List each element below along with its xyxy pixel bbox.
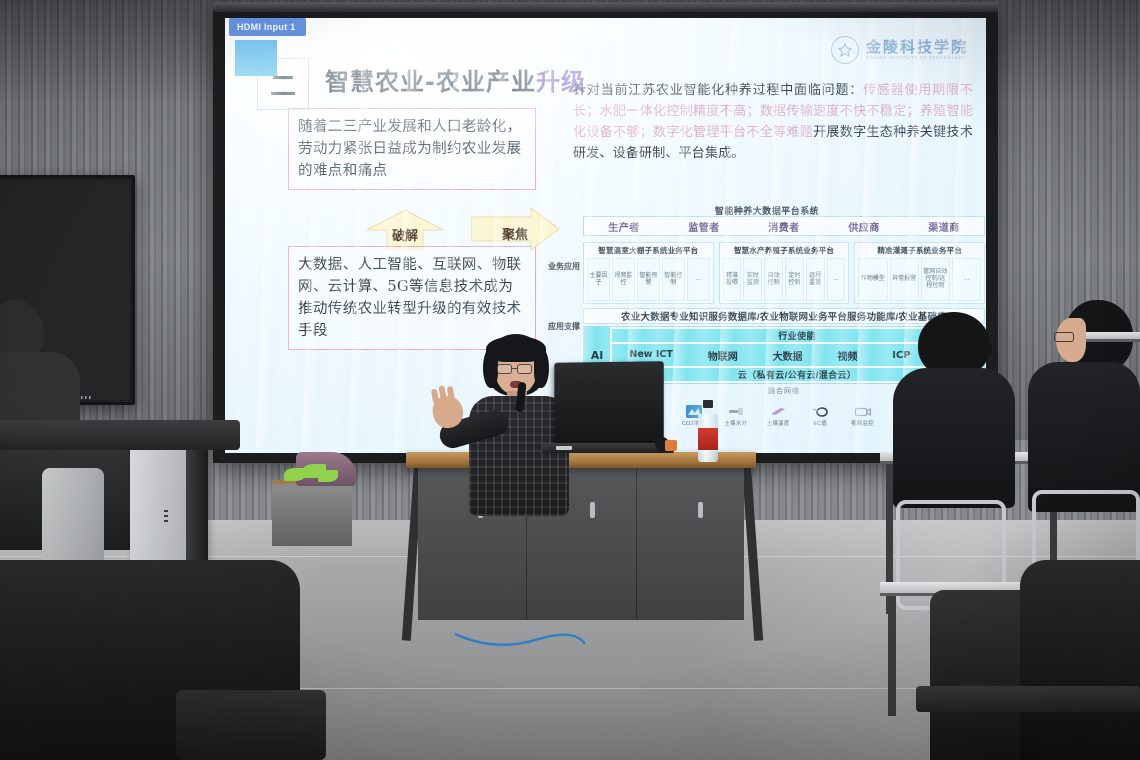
laptop-touchpad[interactable] — [556, 446, 572, 450]
module: 智能控制 — [662, 258, 685, 301]
platform-irrigation-modules: 作物模型 异常报警 管网自动控制/远程控制 … — [858, 258, 981, 301]
platform-aquaculture-title: 智慧水产养殖子系统业务平台 — [723, 245, 846, 256]
tech-new-ict: New ICT — [629, 350, 672, 360]
module: 作物模型 — [858, 258, 887, 301]
hdmi-input-badge: HDMI Input 1 — [229, 18, 306, 36]
sensor-caption: 视频监控 — [843, 419, 883, 427]
module: 定时控制 — [785, 258, 804, 301]
platform-irrigation-title: 精准灌溉子系统业务平台 — [858, 245, 981, 256]
problem-paragraph: 针对当前江苏农业智能化种养过程中面临问题：传感器使用期限不长；水肥一体化控制精度… — [573, 80, 973, 164]
paragraph-lead: 针对当前江苏农业智能化种养过程中面临问题： — [573, 83, 863, 98]
sensor-caption: EC值 — [800, 419, 840, 427]
presenter-hair-side — [534, 348, 549, 388]
module: … — [687, 258, 710, 301]
module: 异常报警 — [890, 258, 919, 301]
laptop-screen[interactable] — [554, 361, 663, 445]
bottle-label — [698, 428, 718, 450]
panel-seam — [636, 468, 637, 620]
clicker-case — [665, 440, 677, 451]
module: 精准投喂 — [723, 258, 742, 301]
bottle-cap — [703, 400, 713, 408]
student-front-hair-bun — [966, 336, 992, 360]
module: 实时监测 — [743, 258, 762, 301]
tech-iot: 物联网 — [708, 348, 738, 363]
role-supplier: 供应商 — [848, 219, 880, 234]
ec-sensor-icon — [800, 404, 840, 419]
classroom-scene: HDMI Input 1 二 智慧农业-农业产业升级 金陵科技学院 JINLIN… — [0, 0, 1140, 760]
student-back-glasses — [1054, 332, 1074, 342]
platform-irrigation[interactable]: 精准灌溉子系统业务平台 作物模型 异常报警 管网自动控制/远程控制 … — [854, 242, 985, 304]
plant-leaf — [318, 470, 338, 482]
platform-greenhouse-title: 智慧温室大棚子系统业务平台 — [587, 245, 710, 256]
module: 视频监控 — [612, 258, 635, 301]
school-crest-icon — [831, 36, 859, 64]
tech-video: 视频 — [837, 348, 857, 363]
tech-bigdata: 大数据 — [773, 348, 803, 363]
tech-icp: ICP — [892, 350, 910, 361]
sensor-item: 土壤水分 — [716, 404, 756, 427]
student-desk — [1086, 332, 1140, 342]
role-producer: 生产者 — [608, 219, 640, 234]
user-roles-row: 生产者 监管者 消费者 供应商 渠道商 — [583, 216, 985, 236]
platform-aquaculture-modules: 精准投喂 实时监测 自动控制 定时控制 远程监管 … — [723, 258, 846, 301]
sensor-caption: 土壤温度 — [758, 419, 798, 427]
role-channel: 渠道商 — [928, 219, 960, 234]
panel-handle[interactable] — [698, 502, 703, 518]
module: 远程监管 — [806, 258, 825, 301]
presentation-clicker[interactable] — [655, 433, 677, 453]
camera-icon — [843, 404, 883, 419]
school-name-cn: 金陵科技学院 — [866, 40, 968, 56]
arrow-right-label: 聚焦 — [471, 208, 559, 250]
database-layer-row: 农业大数据专业知识服务数据库/农业物联网业务平台服务功能库/农业基础库 — [583, 308, 985, 324]
water-bottle[interactable] — [698, 400, 718, 462]
school-logo: 金陵科技学院 JINLING INSTITUTE OF TECHNOLOGY — [831, 36, 968, 64]
problem-statement-box: 随着二三产业发展和人口老龄化，劳动力紧张日益成为制约农业发展的难点和痛点 — [288, 108, 536, 190]
presenter-glasses-lens — [517, 364, 532, 374]
arrow-up-breakthrough: 破解 — [357, 210, 453, 250]
school-name-en: JINLING INSTITUTE OF TECHNOLOGY — [866, 56, 968, 61]
module: 管网自动控制/远程控制 — [921, 258, 950, 301]
platform-greenhouse-modules: 主要因子 视频监控 智能预警 智能控制 … — [587, 258, 710, 301]
module: 主要因子 — [587, 258, 610, 301]
module: 自动控制 — [764, 258, 783, 301]
arrow-right-focus: 聚焦 — [471, 208, 559, 250]
presenter-glasses-bridge — [512, 368, 517, 369]
foreground-panel-right — [1020, 560, 1140, 760]
slide-title-main: 智慧农业-农业产业 — [325, 68, 536, 96]
student-desk-leg — [888, 596, 896, 716]
arrow-up-label: 破解 — [357, 210, 453, 250]
sub-platforms-row: 智慧温室大棚子系统业务平台 主要因子 视频监控 智能预警 智能控制 … 智慧水产… — [583, 242, 985, 304]
side-cabinet — [272, 480, 352, 546]
module: 智能预警 — [637, 258, 660, 301]
soil-moisture-icon — [716, 404, 756, 419]
floor-cable — [455, 630, 585, 650]
soil-temp-icon — [758, 404, 798, 419]
presenter-glasses-lens — [497, 364, 512, 374]
layer-label-business: 业务应用 — [547, 262, 581, 272]
platform-aquaculture[interactable]: 智慧水产养殖子系统业务平台 精准投喂 实时监测 自动控制 定时控制 远程监管 … — [719, 242, 850, 304]
plant — [278, 462, 348, 486]
foreground-desk-right — [916, 686, 1140, 712]
chair-vent-holes — [164, 510, 168, 524]
platform-greenhouse[interactable]: 智慧温室大棚子系统业务平台 主要因子 视频监控 智能预警 智能控制 … — [583, 242, 714, 304]
foreground-desk-top — [0, 420, 240, 450]
module: … — [952, 258, 981, 301]
school-name-block: 金陵科技学院 JINLING INSTITUTE OF TECHNOLOGY — [866, 40, 968, 60]
module: … — [827, 258, 846, 301]
sensor-caption: 土壤水分 — [716, 419, 756, 427]
sensor-item: 视频监控 — [843, 404, 883, 427]
role-regulator: 监管者 — [688, 219, 720, 234]
hdmi-badge-tail — [235, 40, 277, 76]
slide-title: 智慧农业-农业产业升级 — [325, 62, 586, 97]
role-consumer: 消费者 — [768, 219, 800, 234]
student-front-body — [893, 368, 1015, 508]
layer-label-support: 应用支撑 — [547, 322, 581, 332]
foreground-chair-seat — [176, 690, 326, 760]
presenter-hair-side — [483, 348, 498, 388]
sensor-item: EC值 — [800, 404, 840, 427]
sensor-item: 土壤温度 — [758, 404, 798, 427]
